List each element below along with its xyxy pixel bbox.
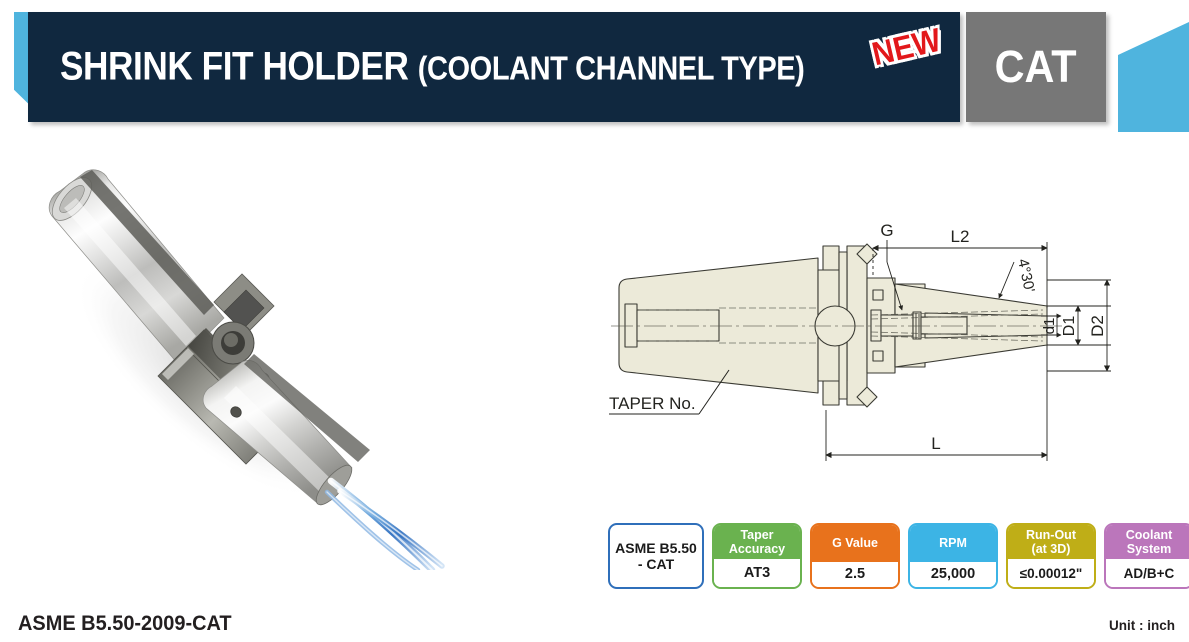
spec-standard-line1: ASME B5.50	[615, 540, 697, 556]
spec-g-value-value: 2.5	[812, 562, 898, 587]
dimension-label-l: L	[931, 434, 940, 453]
page-header: SHRINK FIT HOLDER (COOLANT CHANNEL TYPE)…	[0, 0, 1189, 140]
page-title: SHRINK FIT HOLDER (COOLANT CHANNEL TYPE)	[60, 45, 906, 90]
footer-standard: ASME B5.50-2009-CAT	[18, 612, 243, 636]
dimension-label-g: G	[880, 221, 893, 240]
technical-drawing-svg: L2 4°30' G d1 D1	[595, 218, 1189, 478]
spec-run-out-line2: (at 3D)	[1032, 543, 1071, 557]
accent-arrow-right-icon	[1118, 22, 1189, 132]
dimension-label-l2: L2	[951, 227, 970, 246]
spec-rpm-value: 25,000	[910, 562, 996, 587]
spec-coolant-value: AD/B+C	[1106, 559, 1189, 587]
footer-standard-label: ASME B5.50-2009-CAT	[18, 612, 232, 636]
spec-badge-coolant-system: Coolant System AD/B+C	[1104, 523, 1189, 589]
footer-unit: Unit : inch	[1109, 618, 1175, 633]
taper-no-label: TAPER No.	[609, 394, 696, 413]
coolant-streams	[327, 481, 442, 570]
dimension-label-d1: D1	[1061, 316, 1078, 337]
title-banner: SHRINK FIT HOLDER (COOLANT CHANNEL TYPE)	[28, 12, 960, 122]
spec-badge-standard: ASME B5.50 - CAT	[608, 523, 704, 589]
spec-coolant-line2: System	[1127, 543, 1171, 557]
product-photo	[28, 150, 448, 570]
spec-standard-line2: - CAT	[638, 556, 674, 572]
dimension-label-d2: D2	[1088, 315, 1107, 337]
spec-badge-taper-accuracy: Taper Accuracy AT3	[712, 523, 802, 589]
page-title-main: SHRINK FIT HOLDER	[60, 45, 418, 89]
spec-rpm-line1: RPM	[939, 537, 967, 551]
product-photo-image	[28, 150, 448, 570]
spec-run-out-line1: Run-Out	[1026, 529, 1076, 543]
spec-badge-row: ASME B5.50 - CAT Taper Accuracy AT3 G Va…	[608, 523, 1189, 589]
spec-taper-accuracy-line1: Taper	[740, 529, 773, 543]
spec-g-value-line1: G Value	[832, 537, 878, 551]
category-badge-label: CAT	[995, 41, 1077, 93]
technical-drawing: L2 4°30' G d1 D1	[595, 218, 1189, 478]
spec-badge-g-value: G Value 2.5	[810, 523, 900, 589]
spec-badge-rpm: RPM 25,000	[908, 523, 998, 589]
spec-taper-accuracy-line2: Accuracy	[729, 543, 785, 557]
spec-taper-accuracy-value: AT3	[714, 559, 800, 587]
category-badge: CAT	[966, 12, 1106, 122]
spec-badge-run-out: Run-Out (at 3D) ≤0.00012"	[1006, 523, 1096, 589]
dimension-label-angle: 4°30'	[1014, 257, 1038, 294]
dimension-label-d1-small: d1	[1041, 318, 1058, 335]
spec-coolant-line1: Coolant	[1126, 529, 1173, 543]
spec-run-out-value: ≤0.00012"	[1008, 559, 1094, 587]
page-title-sub: (COOLANT CHANNEL TYPE)	[418, 50, 805, 87]
